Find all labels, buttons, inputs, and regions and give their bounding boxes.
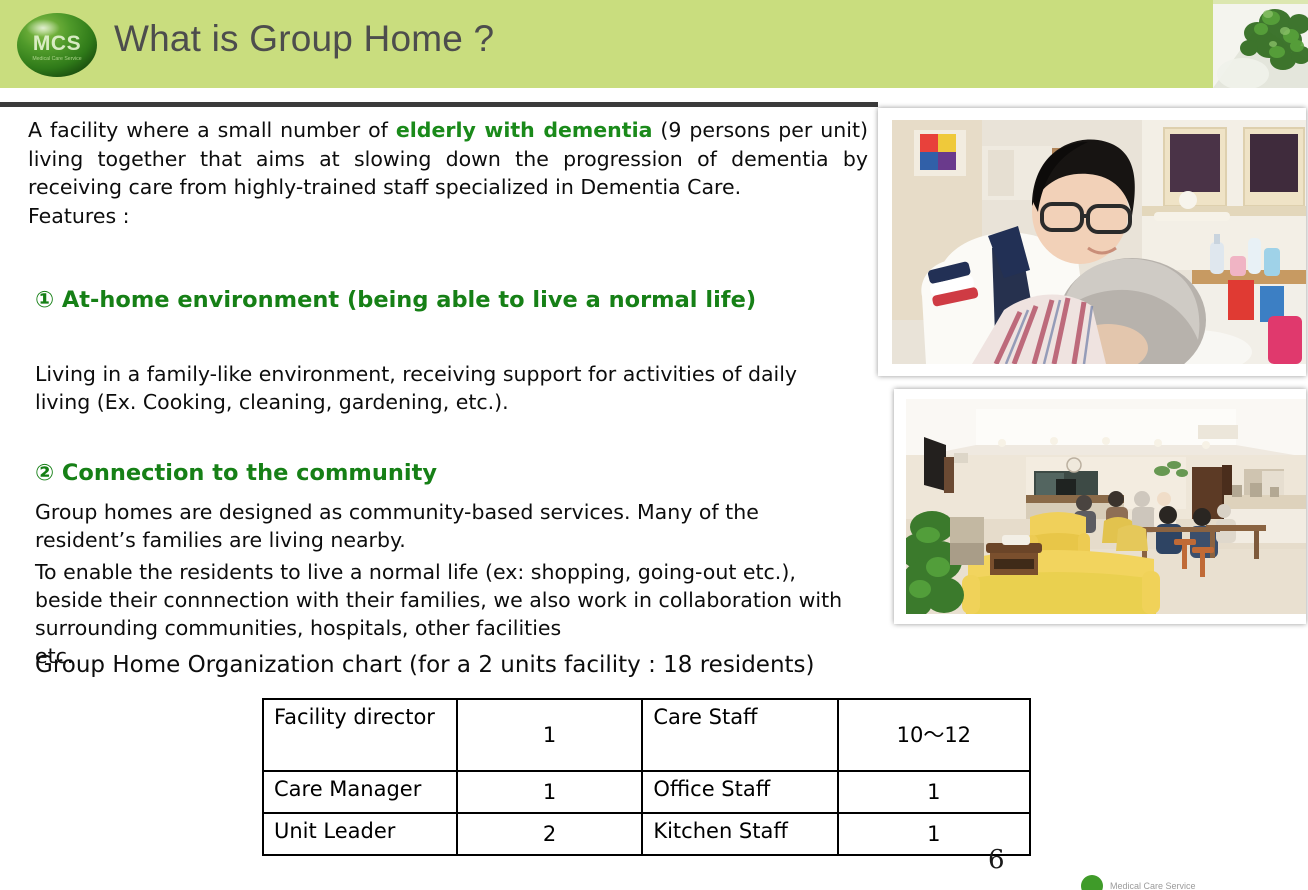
cell-role-2: Care Staff (642, 699, 837, 771)
cell-role-2: Kitchen Staff (642, 813, 837, 855)
section-1-body: Living in a family-like environment, rec… (35, 360, 847, 416)
org-chart-title: Group Home Organization chart (for a 2 u… (35, 650, 815, 680)
header-divider-rule (0, 102, 878, 107)
cell-count-1: 1 (457, 699, 642, 771)
section-2-heading: ② Connection to the community (35, 458, 825, 488)
cell-count-2: 10〜12 (838, 699, 1030, 771)
table-row: Care Manager 1 Office Staff 1 (263, 771, 1030, 813)
page-title: What is Group Home ? (114, 18, 494, 60)
org-chart-table: Facility director 1 Care Staff 10〜12 Car… (262, 698, 1031, 856)
cell-role-1: Care Manager (263, 771, 457, 813)
section-2-body-second: To enable the residents to live a normal… (35, 558, 855, 642)
cell-role-1: Facility director (263, 699, 457, 771)
svg-text:Medical Care Service: Medical Care Service (1110, 881, 1196, 890)
svg-text:Medical Care Service: Medical Care Service (32, 56, 81, 62)
svg-text:MCS: MCS (33, 32, 81, 55)
cell-count-1: 2 (457, 813, 642, 855)
table-row: Facility director 1 Care Staff 10〜12 (263, 699, 1030, 771)
content-text-column: A facility where a small number of elder… (28, 116, 868, 229)
slide-header: MCS Medical Care Service What is Group H… (0, 0, 1308, 88)
section-1-heading: ① At-home environment (being able to liv… (35, 280, 825, 320)
intro-text-before: A facility where a small number of (28, 118, 396, 142)
intro-paragraph: A facility where a small number of elder… (28, 116, 868, 202)
cell-role-1: Unit Leader (263, 813, 457, 855)
org-table-body: Facility director 1 Care Staff 10〜12 Car… (263, 699, 1030, 855)
features-label: Features : (28, 202, 868, 229)
cell-role-2: Office Staff (642, 771, 837, 813)
photo-common-living-room (894, 389, 1306, 624)
header-herbs-photo (1213, 0, 1308, 88)
cell-count-1: 1 (457, 771, 642, 813)
page-number: 6 (988, 845, 1005, 875)
photo-caregiver-with-resident (878, 108, 1306, 376)
cell-count-2: 1 (838, 771, 1030, 813)
footer-mcs-logo-icon: Medical Care Service (1078, 872, 1308, 890)
intro-highlight-text: elderly with dementia (396, 118, 653, 142)
table-row: Unit Leader 2 Kitchen Staff 1 (263, 813, 1030, 855)
section-2-body-first: Group homes are designed as community-ba… (35, 498, 825, 554)
mcs-logo-icon: MCS Medical Care Service (16, 12, 98, 78)
